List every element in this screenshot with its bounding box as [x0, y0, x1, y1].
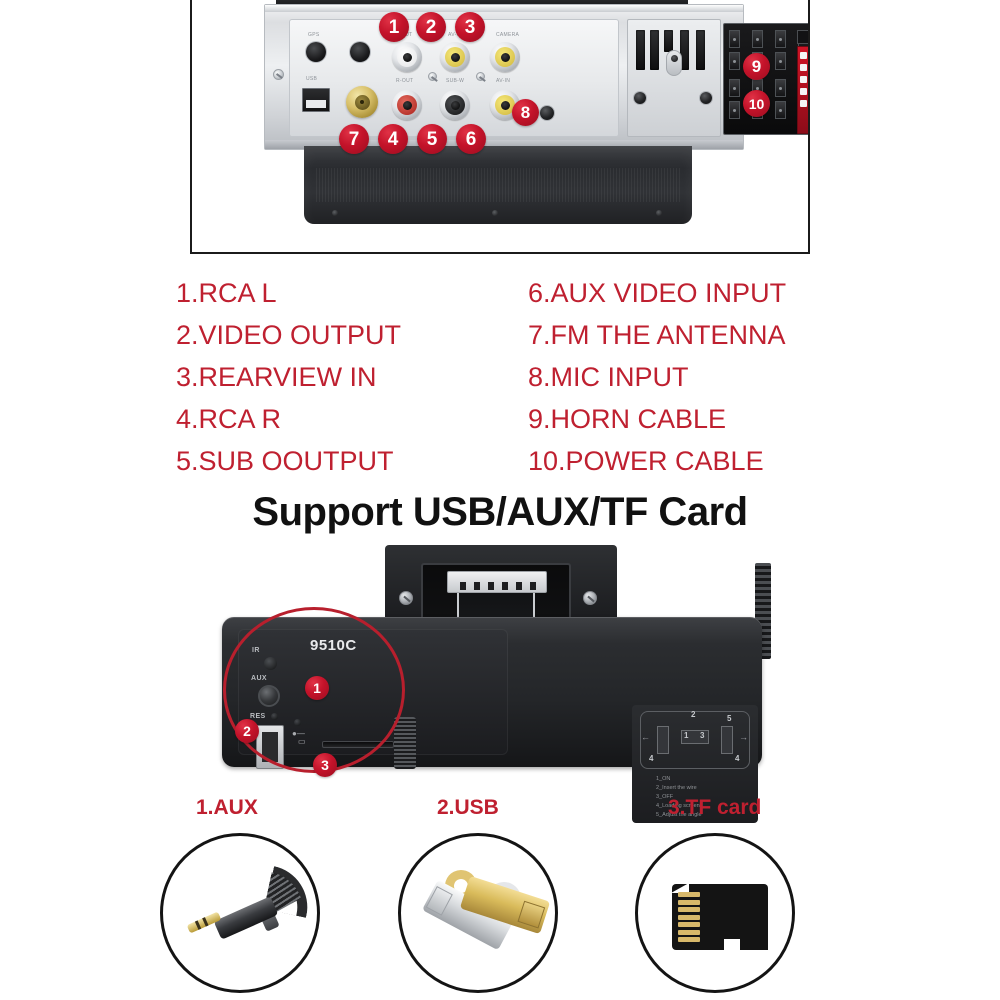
legend-item-6: 6.AUX VIDEO INPUT: [528, 272, 878, 314]
fm-antenna-jack[interactable]: [346, 86, 378, 118]
mechanism-screw-left: [399, 591, 413, 605]
blank-hole-mid: [350, 42, 370, 62]
vent-slot: [664, 30, 673, 52]
unit2-callout-badge-1[interactable]: 1: [305, 676, 329, 700]
vent-knob: [666, 50, 682, 76]
callout-badge-7[interactable]: 7: [339, 124, 369, 154]
body-screw-right: [656, 210, 662, 216]
body-screw-mid: [492, 210, 498, 216]
instruction-num-3: 3: [700, 731, 704, 740]
usb-port-front[interactable]: [256, 725, 284, 769]
blank-hole-left: [306, 42, 326, 62]
ir-receiver-icon: [264, 657, 277, 670]
rear-unit-illustration: GPS USB L-OUT AV-OUT CAMERA R-OUT SUB-W …: [192, 0, 808, 252]
iso-connector-block[interactable]: [723, 23, 810, 135]
product-diagram-page: GPS USB L-OUT AV-OUT CAMERA R-OUT SUB-W …: [0, 0, 1000, 1000]
legend-column-right: 6.AUX VIDEO INPUT 7.FM THE ANTENNA 8.MIC…: [528, 272, 878, 482]
chassis-screw-left: [273, 69, 284, 80]
ribbon-connector: [447, 571, 547, 593]
avin-port-label: AV-IN: [496, 78, 510, 84]
callout-badge-8[interactable]: 8: [512, 99, 539, 126]
callout-badge-10[interactable]: 10: [743, 90, 770, 117]
instruction-num-5: 5: [727, 714, 731, 723]
rca-ring-yellow: [445, 47, 465, 67]
rca-hole: [451, 101, 460, 110]
callout-badge-5[interactable]: 5: [417, 124, 447, 154]
antenna-pin: [360, 100, 364, 104]
instruction-step-1: 1_ON: [656, 775, 670, 783]
unit-black-body: 9510C IR AUX RES ●— ▭: [222, 617, 762, 767]
tf-card-contacts: [678, 892, 700, 944]
usb-tongue: [306, 100, 326, 108]
mechanism-screw-right: [583, 591, 597, 605]
port-recess-area: 9510C IR AUX RES ●— ▭: [238, 629, 508, 755]
callout-badge-6[interactable]: 6: [456, 124, 486, 154]
mic-pinhole: [294, 719, 301, 726]
faceplate-screw-2: [476, 72, 485, 81]
legend-item-10: 10.POWER CABLE: [528, 440, 878, 482]
callout-badge-1[interactable]: 1: [379, 12, 409, 42]
rca-jack-subwoofer-black[interactable]: [440, 90, 470, 120]
vent-slot: [696, 30, 705, 70]
rear-panel-frame: GPS USB L-OUT AV-OUT CAMERA R-OUT SUB-W …: [190, 0, 810, 254]
rca-jack-camera-yellow[interactable]: [490, 42, 520, 72]
rca-hole: [501, 101, 510, 110]
rca-jack-left-white[interactable]: [392, 42, 422, 72]
subw-port-label: SUB-W: [446, 78, 464, 84]
legend-item-9: 9.HORN CABLE: [528, 398, 878, 440]
instruction-diagram: 1 3 2 4 4 5 ← →: [640, 711, 750, 769]
legend-item-8: 8.MIC INPUT: [528, 356, 878, 398]
legend-item-3: 3.REARVIEW IN: [176, 356, 516, 398]
camera-port-label: CAMERA: [496, 32, 519, 38]
fuse-housing-black: [797, 30, 810, 44]
legend-column-left: 1.RCA L 2.VIDEO OUTPUT 3.REARVIEW IN 4.R…: [176, 272, 516, 482]
rca-hole: [501, 53, 510, 62]
gps-port-label: GPS: [308, 32, 319, 38]
legend-item-7: 7.FM THE ANTENNA: [528, 314, 878, 356]
iso-pin: [729, 30, 740, 48]
instruction-step-2: 2_Insert the wire: [656, 784, 697, 792]
rca-jack-right-red[interactable]: [392, 90, 422, 120]
accessory-circle-usb: [398, 833, 558, 993]
mic-input-jack[interactable]: [540, 106, 554, 120]
fuse-strip-red: [797, 46, 810, 134]
legend-item-1: 1.RCA L: [176, 272, 516, 314]
vent-heatsink-block: [627, 19, 721, 137]
rca-ring-yellow: [495, 47, 515, 67]
iso-pin: [729, 52, 740, 70]
instruction-num-4-right: 4: [735, 754, 739, 763]
tf-card-icon: [672, 884, 768, 950]
instruction-num-1: 1: [684, 731, 688, 740]
rca-jack-video-out-yellow[interactable]: [440, 42, 470, 72]
instruction-box-right: [721, 726, 733, 754]
iso-pin: [775, 30, 786, 48]
tf-symbol-icon: ▭: [298, 737, 306, 746]
vent-slot: [636, 30, 645, 70]
accessory-circle-aux: [160, 833, 320, 993]
rca-ring-red: [397, 95, 417, 115]
antenna-inner: [355, 95, 370, 110]
ir-label: IR: [252, 647, 260, 654]
callout-badge-4[interactable]: 4: [378, 124, 408, 154]
iso-pin: [752, 30, 763, 48]
vent-screw-right: [700, 92, 712, 104]
instruction-num-4-left: 4: [649, 754, 653, 763]
instruction-num-2: 2: [691, 710, 695, 719]
section-heading: Support USB/AUX/TF Card: [0, 490, 1000, 535]
aux-label: AUX: [251, 675, 267, 682]
rca-hole: [403, 101, 412, 110]
model-number: 9510C: [310, 637, 357, 654]
arrow-left-icon: ←: [641, 732, 650, 742]
front-unit-illustration: 9510C IR AUX RES ●— ▭: [215, 545, 785, 795]
arrow-right-icon: →: [739, 732, 748, 742]
metal-chassis: GPS USB L-OUT AV-OUT CAMERA R-OUT SUB-W …: [264, 4, 744, 150]
faceplate-screw-1: [428, 72, 437, 81]
rout-port-label: R-OUT: [396, 78, 413, 84]
iso-pin: [775, 101, 786, 119]
rca-hole: [403, 53, 412, 62]
accessory-label-aux: 1.AUX: [196, 796, 258, 820]
iso-pin: [729, 101, 740, 119]
callout-badge-3[interactable]: 3: [455, 12, 485, 42]
legend-item-5: 5.SUB OOUTPUT: [176, 440, 516, 482]
tf-card-slot[interactable]: [322, 741, 394, 748]
reset-button[interactable]: [271, 713, 278, 720]
iso-pin: [775, 52, 786, 70]
rca-hole: [451, 53, 460, 62]
legend-item-2: 2.VIDEO OUTPUT: [176, 314, 516, 356]
accessory-label-usb: 2.USB: [437, 796, 499, 820]
aux-plug-body: [214, 896, 279, 939]
accessory-label-tf: 3.TF card: [668, 796, 761, 820]
unit2-callout-badge-2[interactable]: 2: [235, 719, 259, 743]
vent-slot: [650, 30, 659, 70]
accessory-circle-tf: [635, 833, 795, 993]
unit-lower-body: [304, 146, 692, 224]
rca-ring-black: [445, 95, 465, 115]
rca-ring-white: [397, 47, 417, 67]
vent-screw-left: [634, 92, 646, 104]
legend-item-4: 4.RCA R: [176, 398, 516, 440]
unit2-callout-badge-3[interactable]: 3: [313, 753, 337, 777]
res-label: RES: [250, 713, 266, 720]
rear-usb-port[interactable]: [302, 88, 330, 112]
body-texture: [316, 168, 680, 202]
body-screw-left: [332, 210, 338, 216]
iso-pin: [775, 79, 786, 97]
connector-faceplate: GPS USB L-OUT AV-OUT CAMERA R-OUT SUB-W …: [289, 19, 619, 137]
iso-pin: [729, 79, 740, 97]
callout-badge-9[interactable]: 9: [743, 53, 770, 80]
aux-jack-port[interactable]: [258, 685, 280, 707]
callout-badge-2[interactable]: 2: [416, 12, 446, 42]
usb-port-label: USB: [306, 76, 317, 82]
instruction-box-left: [657, 726, 669, 754]
tilt-adjust-wheel[interactable]: [394, 717, 416, 769]
